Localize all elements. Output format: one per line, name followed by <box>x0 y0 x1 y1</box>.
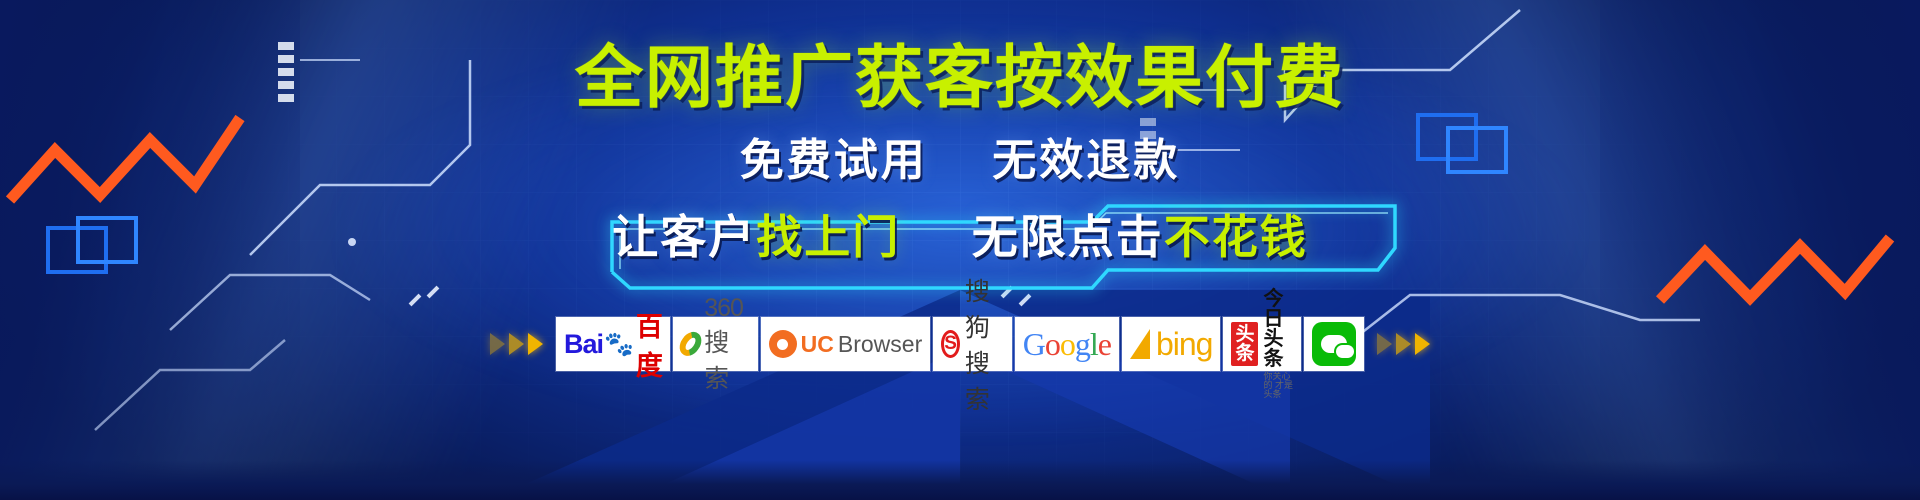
chevron-icon <box>490 333 505 355</box>
logo-uc-browser[interactable]: UCBrowser <box>761 317 931 371</box>
logo-google[interactable]: Google <box>1015 317 1119 371</box>
logo-wechat[interactable] <box>1304 317 1364 371</box>
chevron-icon <box>509 333 524 355</box>
google-letter: o <box>1060 326 1075 362</box>
toutiao-badge: 头条 <box>1231 322 1258 366</box>
chevrons-left <box>490 333 543 355</box>
uc-text: UC <box>801 331 834 358</box>
logo-sogou-search[interactable]: S 搜狗搜索 <box>933 317 1012 371</box>
google-letter: G <box>1023 326 1045 362</box>
partner-logo-strip: Bai 🐾 百度 360搜索 UCBrowser S 搜狗搜索 <box>480 315 1440 373</box>
wechat-icon <box>1312 322 1356 366</box>
google-letter: g <box>1075 326 1090 362</box>
bing-text: bing <box>1156 326 1213 363</box>
ring-icon <box>675 328 706 360</box>
tagline-part1-white: 让客户 <box>612 211 756 263</box>
promo-banner: 全网推广获客按效果付费 免费试用 无效退款 让客户找上门 无限点击不花钱 Bai… <box>0 0 1920 500</box>
logo-toutiao[interactable]: 头条 今日头条 你关心的 才是头条 <box>1223 317 1301 371</box>
chevron-icon <box>1415 333 1430 355</box>
logo-360-search[interactable]: 360搜索 <box>673 317 758 371</box>
chevron-icon <box>1377 333 1392 355</box>
chevron-icon <box>1396 333 1411 355</box>
squirrel-icon <box>769 330 797 358</box>
bing-mark-icon <box>1130 329 1150 359</box>
google-letter: o <box>1045 326 1060 362</box>
tagline-part1-green: 找上门 <box>756 211 900 263</box>
tagline: 让客户找上门 无限点击不花钱 <box>612 212 1308 262</box>
paw-icon: 🐾 <box>604 330 633 359</box>
sogou-s-icon: S <box>941 330 960 358</box>
toutiao-tagline: 你关心的 才是头条 <box>1263 372 1293 399</box>
tagline-part2-white: 无限点击 <box>972 211 1164 263</box>
baidu-latin-text: Bai <box>564 329 603 360</box>
google-letter: e <box>1098 326 1111 362</box>
logo-bing[interactable]: bing <box>1122 317 1221 371</box>
toutiao-text: 今日头条 <box>1263 289 1293 369</box>
baidu-cn-text: 百度 <box>636 305 662 383</box>
sogou-text: 搜狗搜索 <box>965 272 1004 416</box>
google-letter: l <box>1090 326 1098 362</box>
so360-text: 360搜索 <box>704 294 749 395</box>
chevron-icon <box>528 333 543 355</box>
chevrons-right <box>1377 333 1430 355</box>
logo-baidu[interactable]: Bai 🐾 百度 <box>556 317 670 371</box>
tagline-part2-green: 不花钱 <box>1164 211 1308 263</box>
uc-browser-text: Browser <box>838 331 922 358</box>
